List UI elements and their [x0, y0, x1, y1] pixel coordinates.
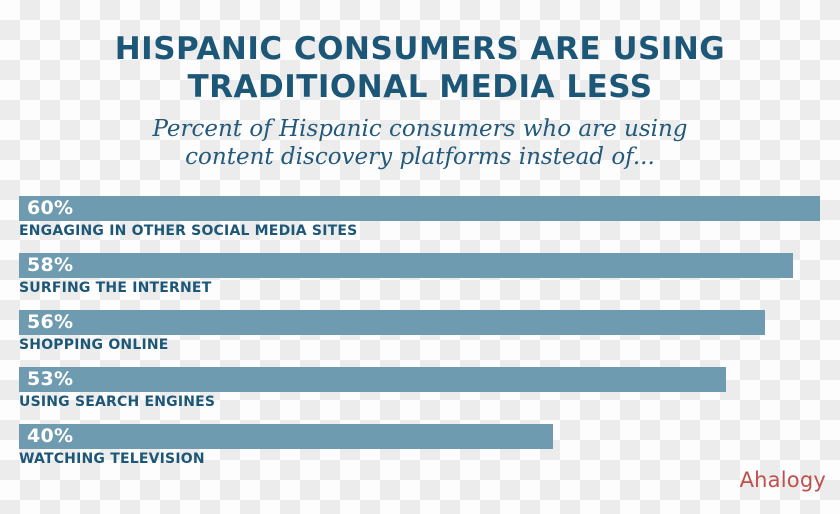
bar-category-label: SURFING THE INTERNET	[19, 280, 840, 296]
bar-track: 58%	[19, 253, 840, 278]
bar-fill	[19, 253, 793, 278]
bar-category-label: SHOPPING ONLINE	[19, 337, 840, 353]
bar-fill	[19, 310, 765, 335]
bar-value-label: 40%	[27, 424, 73, 449]
ahalogy-logo: Ahalogy	[740, 468, 826, 492]
bar-value-label: 60%	[27, 196, 73, 221]
bar-row: 58% SURFING THE INTERNET	[0, 253, 840, 310]
bar-row: 53% USING SEARCH ENGINES	[0, 367, 840, 424]
subtitle-line-1: Percent of Hispanic consumers who are us…	[0, 115, 840, 143]
bar-category-label: WATCHING TELEVISION	[19, 451, 840, 467]
bar-chart: 60% ENGAGING IN OTHER SOCIAL MEDIA SITES…	[0, 196, 840, 481]
bar-fill	[19, 367, 726, 392]
bar-row: 56% SHOPPING ONLINE	[0, 310, 840, 367]
bar-fill	[19, 424, 553, 449]
subtitle: Percent of Hispanic consumers who are us…	[0, 115, 840, 171]
bar-category-label: USING SEARCH ENGINES	[19, 394, 840, 410]
bar-value-label: 56%	[27, 310, 73, 335]
bar-track: 53%	[19, 367, 840, 392]
page-title-line-1: HISPANIC CONSUMERS ARE USING	[0, 30, 840, 68]
bar-value-label: 58%	[27, 253, 73, 278]
bar-row: 60% ENGAGING IN OTHER SOCIAL MEDIA SITES	[0, 196, 840, 253]
bar-track: 40%	[19, 424, 840, 449]
bar-value-label: 53%	[27, 367, 73, 392]
subtitle-line-2: content discovery platforms instead of..…	[0, 143, 840, 171]
infographic-canvas: HISPANIC CONSUMERS ARE USING TRADITIONAL…	[0, 0, 840, 514]
bar-category-label: ENGAGING IN OTHER SOCIAL MEDIA SITES	[19, 223, 840, 239]
bar-track: 56%	[19, 310, 840, 335]
page-title-line-2: TRADITIONAL MEDIA LESS	[0, 68, 840, 106]
bar-row: 40% WATCHING TELEVISION	[0, 424, 840, 481]
header: HISPANIC CONSUMERS ARE USING TRADITIONAL…	[0, 0, 840, 171]
bar-fill	[19, 196, 820, 221]
bar-track: 60%	[19, 196, 840, 221]
